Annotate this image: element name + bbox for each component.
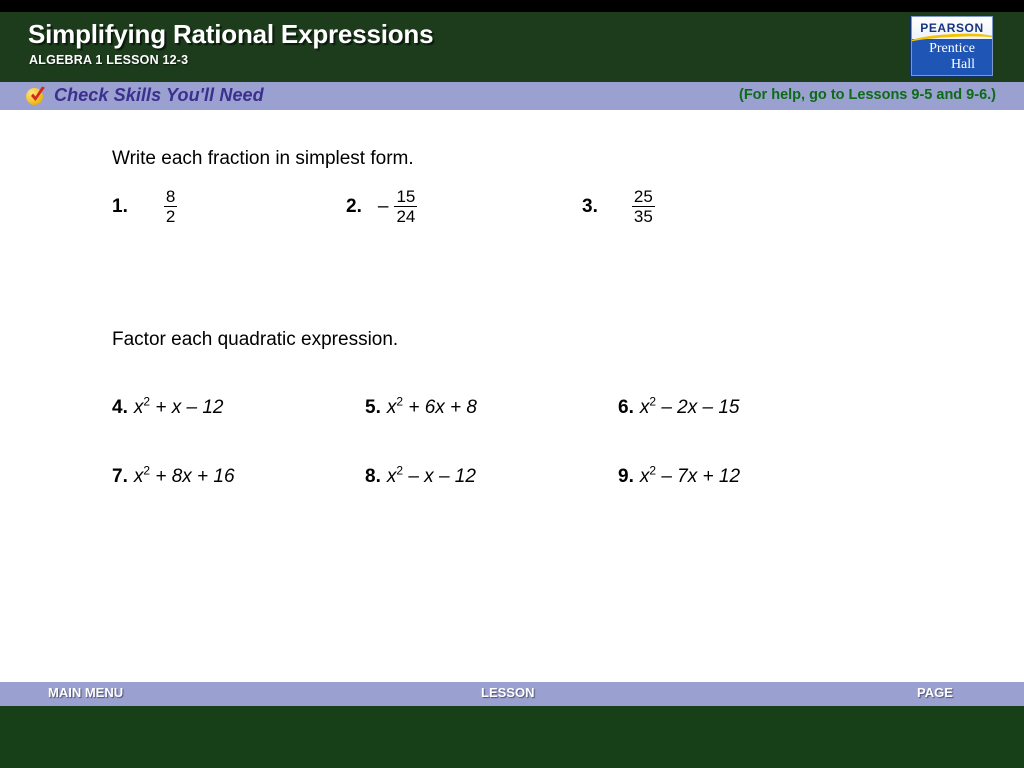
problem-item-3: 3. 25 35 bbox=[582, 188, 656, 225]
problem-expression: x2 – 7x + 12 bbox=[640, 466, 740, 488]
expr-rest: – 7x + 12 bbox=[656, 466, 740, 487]
prompt-fractions: Write each fraction in simplest form. bbox=[112, 148, 414, 170]
problem-number: 9. bbox=[618, 466, 634, 488]
problem-number: 8. bbox=[365, 466, 381, 488]
fraction-denominator: 24 bbox=[394, 206, 417, 225]
logo-imprint-line1: Prentice bbox=[912, 41, 992, 57]
fraction-numerator: 15 bbox=[394, 188, 417, 206]
nav-main-menu-label: MAIN MENU bbox=[48, 685, 123, 700]
slide-canvas: Simplifying Rational Expressions ALGEBRA… bbox=[0, 0, 1024, 768]
check-icon-tick bbox=[28, 86, 47, 105]
fraction-denominator: 35 bbox=[632, 206, 655, 225]
expr-variable: x bbox=[134, 466, 144, 487]
expr-rest: – 2x – 15 bbox=[656, 397, 739, 418]
expr-rest: + 6x + 8 bbox=[403, 397, 477, 418]
fraction-denominator: 2 bbox=[164, 206, 177, 225]
gold-check-icon bbox=[26, 86, 47, 106]
slide-header: Simplifying Rational Expressions ALGEBRA… bbox=[0, 12, 1024, 82]
problem-item-9: 9. x2 – 7x + 12 bbox=[618, 466, 740, 488]
problem-expression: x2 – x – 12 bbox=[387, 466, 476, 488]
expr-variable: x bbox=[640, 397, 650, 418]
nav-lesson-label: LESSON bbox=[481, 685, 534, 700]
nav-page-label: PAGE bbox=[917, 685, 953, 700]
fraction-problem-row: 1. 8 2 2. – 15 24 3. 25 bbox=[0, 188, 1024, 238]
logo-imprint: Prentice Hall bbox=[912, 41, 992, 75]
lesson-subtitle: ALGEBRA 1 LESSON 12-3 bbox=[29, 53, 188, 67]
problem-sign: – bbox=[378, 196, 389, 218]
slide-content: Write each fraction in simplest form. 1.… bbox=[0, 110, 1024, 675]
problem-number: 7. bbox=[112, 466, 128, 488]
logo-imprint-line2: Hall bbox=[912, 57, 992, 72]
problem-item-5: 5. x2 + 6x + 8 bbox=[365, 397, 477, 419]
prompt-factoring: Factor each quadratic expression. bbox=[112, 329, 398, 351]
problem-item-7: 7. x2 + 8x + 16 bbox=[112, 466, 235, 488]
fraction: 8 2 bbox=[164, 188, 177, 225]
expr-variable: x bbox=[134, 397, 144, 418]
expr-variable: x bbox=[387, 466, 397, 487]
problem-item-2: 2. – 15 24 bbox=[346, 188, 418, 225]
problem-number: 6. bbox=[618, 397, 634, 419]
expr-rest: – x – 12 bbox=[403, 466, 476, 487]
pearson-prentice-hall-logo: PEARSON Prentice Hall bbox=[911, 16, 993, 76]
expr-variable: x bbox=[387, 397, 397, 418]
problem-number: 3. bbox=[582, 196, 598, 218]
fraction: 25 35 bbox=[632, 188, 655, 225]
expr-variable: x bbox=[640, 466, 650, 487]
problem-number: 2. bbox=[346, 196, 362, 218]
help-reference-note: (For help, go to Lessons 9-5 and 9-6.) bbox=[739, 87, 996, 103]
problem-number: 4. bbox=[112, 397, 128, 419]
check-skills-label: Check Skills You'll Need bbox=[54, 85, 264, 106]
problem-number: 5. bbox=[365, 397, 381, 419]
fraction-numerator: 8 bbox=[164, 188, 177, 206]
problem-expression: x2 – 2x – 15 bbox=[640, 397, 740, 419]
problem-number: 1. bbox=[112, 196, 128, 218]
problem-item-8: 8. x2 – x – 12 bbox=[365, 466, 476, 488]
expr-rest: + 8x + 16 bbox=[150, 466, 235, 487]
quadratic-problem-row-2: 7. x2 + 8x + 16 8. x2 – x – 12 9. x2 – 7… bbox=[0, 466, 1024, 516]
fraction-numerator: 25 bbox=[632, 188, 655, 206]
problem-expression: x2 + x – 12 bbox=[134, 397, 224, 419]
problem-expression: x2 + 6x + 8 bbox=[387, 397, 477, 419]
problem-item-6: 6. x2 – 2x – 15 bbox=[618, 397, 740, 419]
top-black-strip bbox=[0, 0, 1024, 12]
problem-expression: x2 + 8x + 16 bbox=[134, 466, 235, 488]
quadratic-problem-row-1: 4. x2 + x – 12 5. x2 + 6x + 8 6. x2 – 2x… bbox=[0, 397, 1024, 447]
problem-item-4: 4. x2 + x – 12 bbox=[112, 397, 223, 419]
fraction: 15 24 bbox=[394, 188, 417, 225]
problem-item-1: 1. 8 2 bbox=[112, 188, 178, 225]
page-title: Simplifying Rational Expressions bbox=[28, 19, 433, 50]
expr-rest: + x – 12 bbox=[150, 397, 223, 418]
nav-button-panel: 12-3 bbox=[0, 706, 1024, 768]
